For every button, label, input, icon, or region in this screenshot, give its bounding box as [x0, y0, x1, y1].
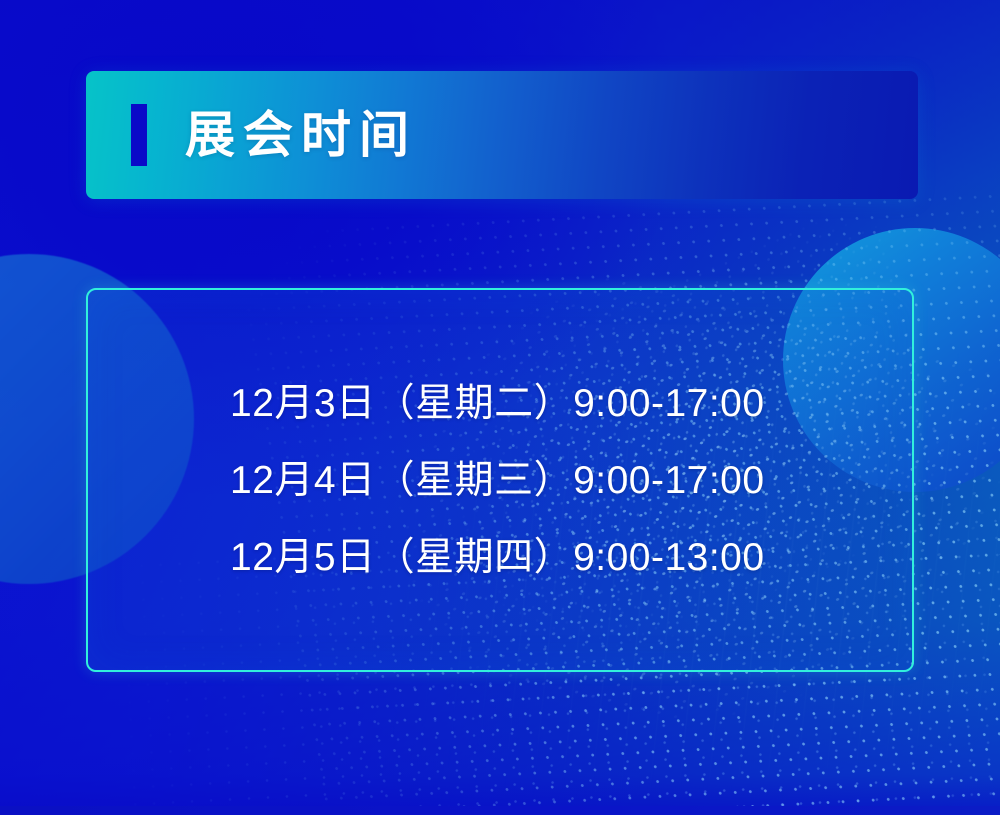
schedule-item: 12月4日（星期三）9:00-17:00 [230, 461, 912, 500]
poster-canvas: 展会时间 12月3日（星期二）9:00-17:00 12月4日（星期三）9:00… [0, 0, 1000, 815]
header-banner: 展会时间 [86, 71, 918, 199]
schedule-card: 12月3日（星期二）9:00-17:00 12月4日（星期三）9:00-17:0… [86, 288, 914, 672]
schedule-list: 12月3日（星期二）9:00-17:00 12月4日（星期三）9:00-17:0… [88, 384, 912, 577]
bottom-edge-strip [0, 806, 1000, 815]
page-title: 展会时间 [185, 110, 417, 160]
banner-accent-bar-icon [131, 104, 147, 166]
schedule-item: 12月5日（星期四）9:00-13:00 [230, 538, 912, 577]
schedule-item: 12月3日（星期二）9:00-17:00 [230, 384, 912, 423]
